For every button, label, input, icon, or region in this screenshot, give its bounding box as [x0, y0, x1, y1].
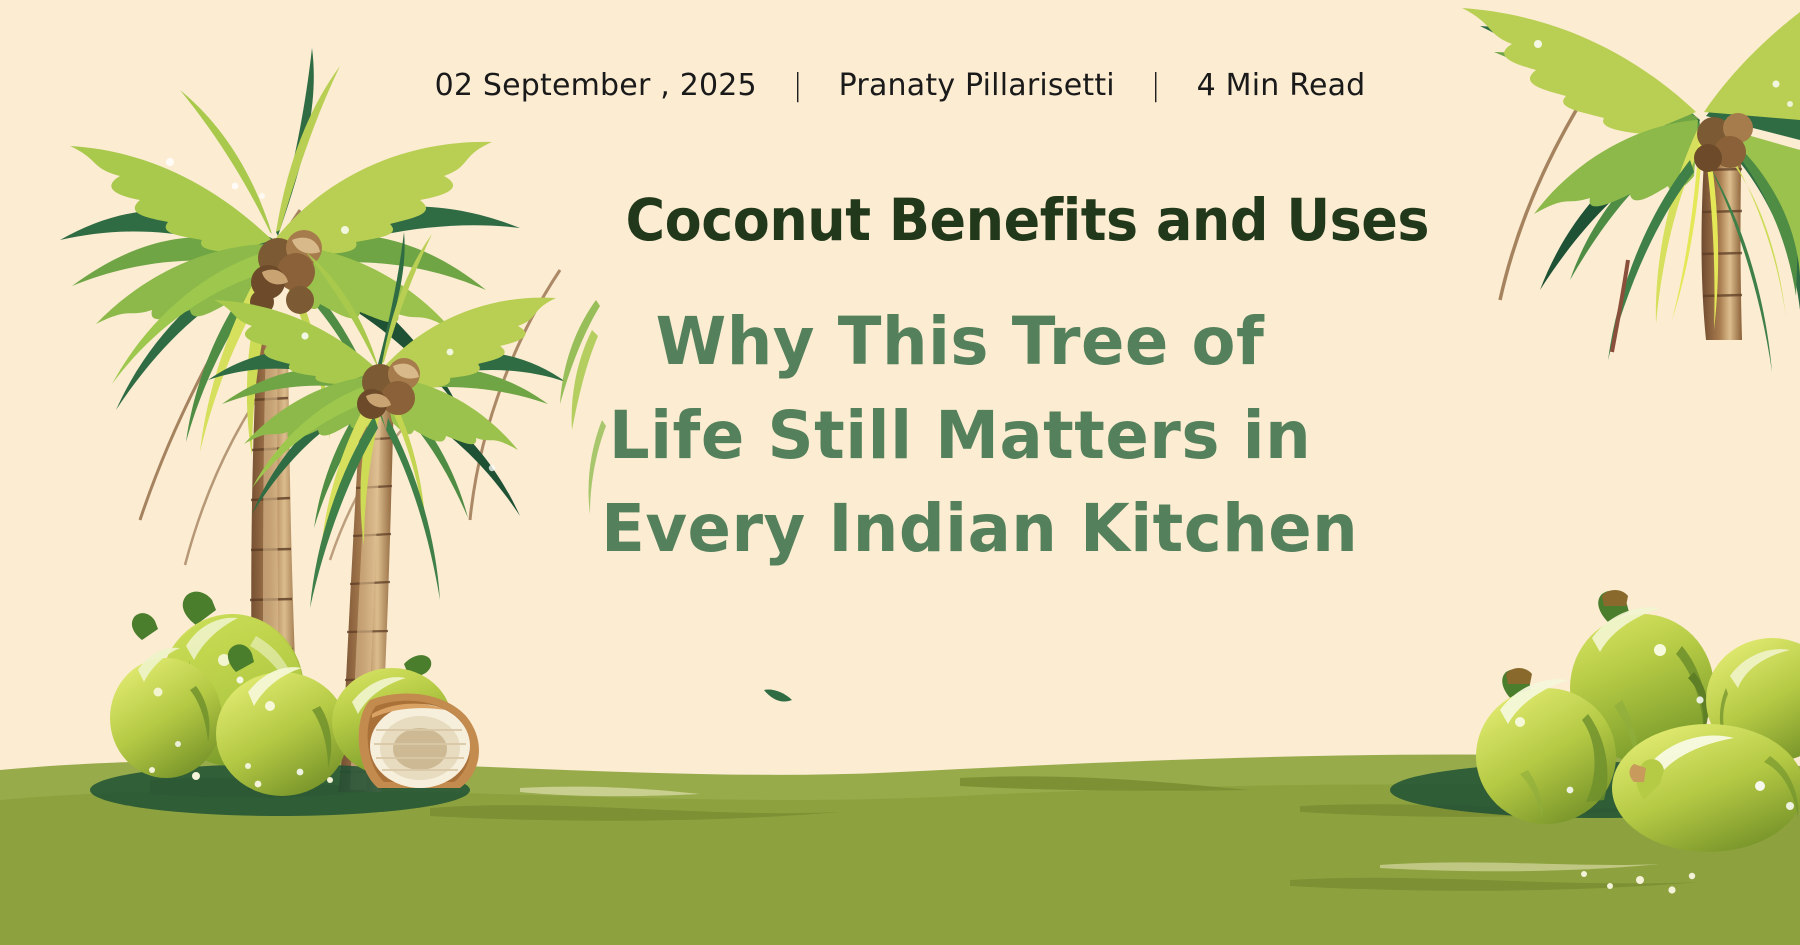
meta-separator-1: |: [767, 68, 829, 103]
blog-banner: 02 September , 2025 | Pranaty Pillariset…: [0, 0, 1800, 945]
headline-block: Coconut Benefits and Uses: [600, 190, 1330, 251]
read-time: 4 Min Read: [1197, 68, 1366, 103]
subtitle-line-1: Why This Tree of: [601, 295, 1319, 389]
subtitle-line-2: Life Still Matters in: [601, 389, 1319, 483]
subtitle-block: Why This Tree of Life Still Matters in E…: [590, 295, 1330, 576]
text-layer: 02 September , 2025 | Pranaty Pillariset…: [0, 0, 1800, 945]
author-name: Pranaty Pillarisetti: [839, 68, 1115, 103]
page-title: Coconut Benefits and Uses: [626, 190, 1305, 251]
article-meta: 02 September , 2025 | Pranaty Pillariset…: [0, 68, 1800, 103]
meta-separator-2: |: [1125, 68, 1187, 103]
subtitle-line-3: Every Indian Kitchen: [601, 482, 1319, 576]
publish-date: 02 September , 2025: [435, 68, 757, 103]
